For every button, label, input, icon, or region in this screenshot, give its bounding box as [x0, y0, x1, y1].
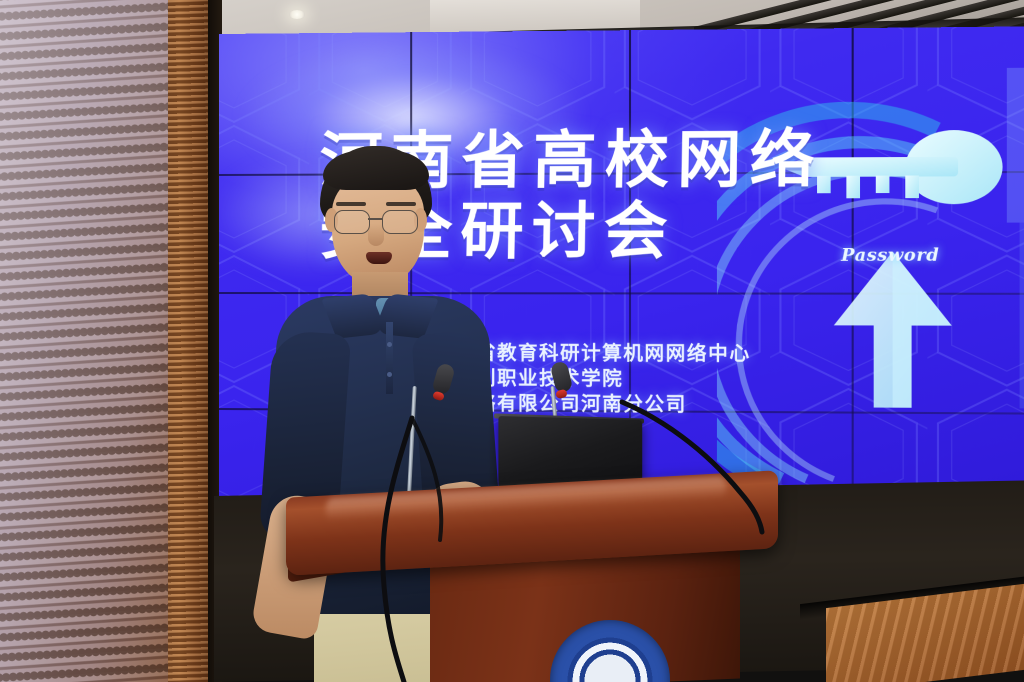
acoustic-wall — [0, 0, 214, 682]
mouth — [366, 252, 392, 264]
eyebrow-left — [336, 202, 366, 206]
nose — [368, 224, 384, 246]
shirt-placket — [386, 322, 393, 394]
eyebrow-right — [386, 202, 416, 206]
hair-front — [323, 150, 429, 190]
downlight-icon — [289, 10, 305, 19]
wall-light-gradient — [0, 0, 194, 682]
conference-photo-scene: Password 河南省高校网络 安全研讨会 省教育科研计算机网网络中心 利职业… — [0, 0, 1024, 682]
